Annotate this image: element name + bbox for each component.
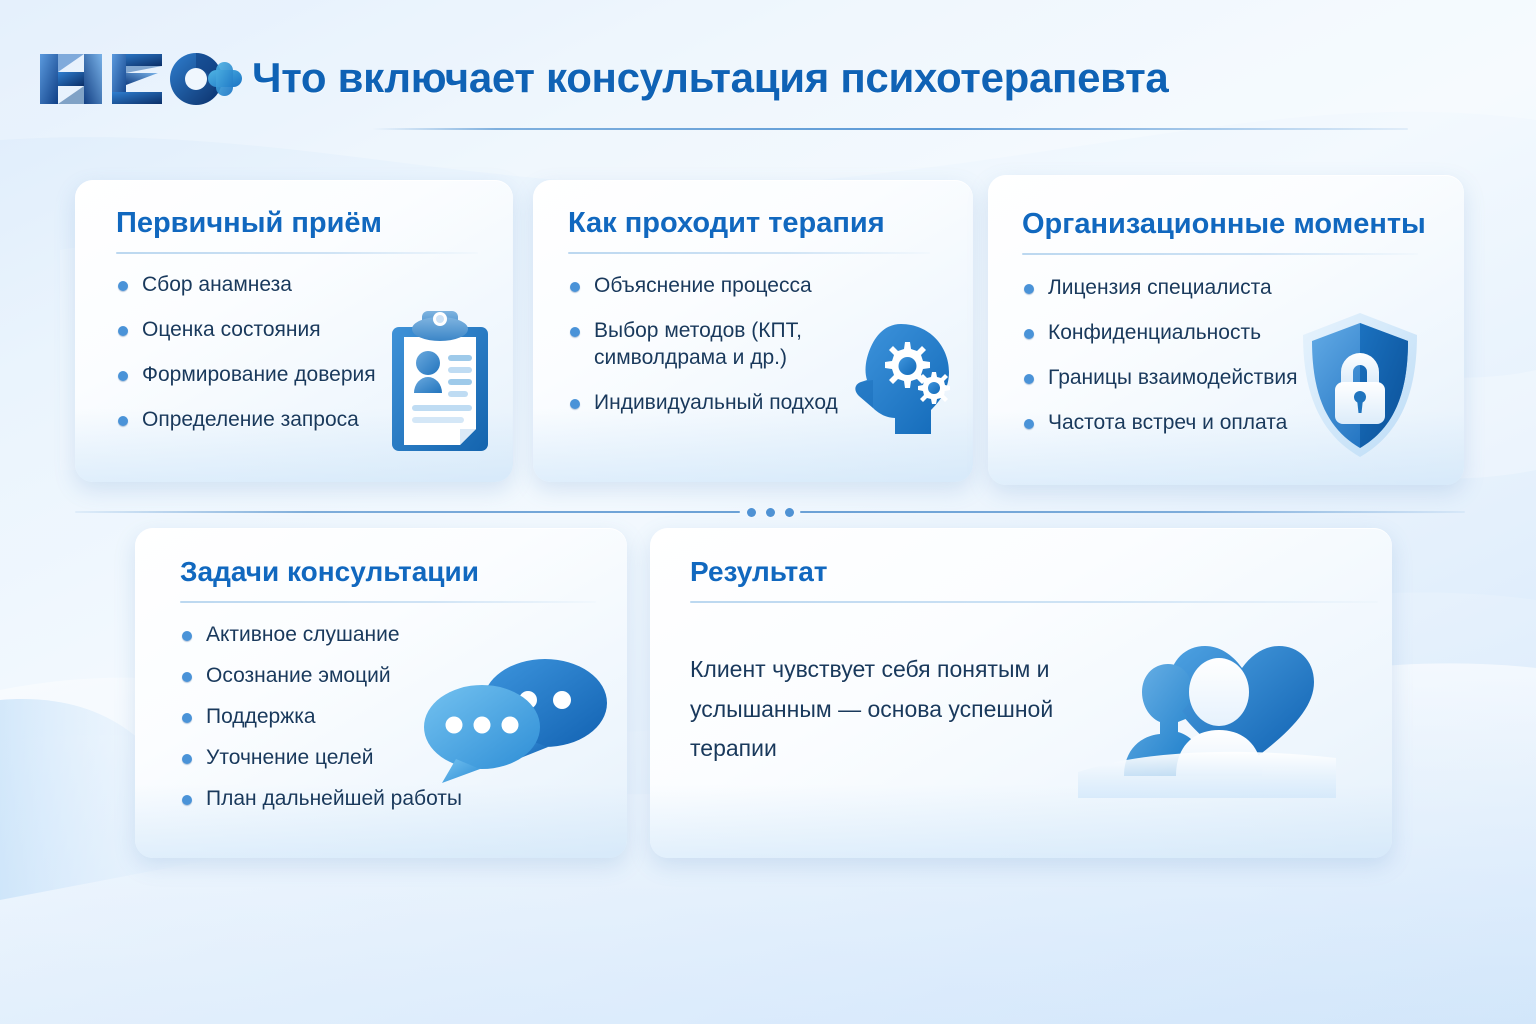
- divider-dots: [740, 505, 800, 519]
- section-divider: [75, 505, 1465, 519]
- list-item: Осознание эмоций: [180, 663, 510, 690]
- list-item: Границы взаимодействия: [1022, 365, 1322, 392]
- card-title-tasks: Задачи консультации: [180, 556, 479, 588]
- list-item: План дальнейшей работы: [180, 786, 510, 813]
- list-item: Частота встреч и оплата: [1022, 410, 1322, 437]
- list-item: Уточнение целей: [180, 745, 510, 772]
- divider-line-left: [75, 511, 740, 513]
- list-item: Оценка состояния: [116, 317, 416, 344]
- bullet-list-therapy: Объяснение процесса Выбор методов (КПТ, …: [568, 273, 848, 435]
- list-item: Формирование доверия: [116, 362, 416, 389]
- result-body-text: Клиент чувствует себя понятым и услышанн…: [690, 650, 1090, 769]
- list-item: Объяснение процесса: [568, 273, 848, 300]
- list-item: Лицензия специалиста: [1022, 275, 1322, 302]
- divider-dot: [785, 508, 794, 517]
- card-rule-therapy: [568, 252, 930, 254]
- divider-dot: [747, 508, 756, 517]
- neo-plus-logo: [38, 48, 243, 110]
- divider-dot: [766, 508, 775, 517]
- heart-people-icon: [1078, 618, 1336, 798]
- list-item: Индивидуальный подход: [568, 390, 848, 417]
- list-item: Активное слушание: [180, 622, 510, 649]
- header-divider: [372, 128, 1408, 130]
- page-header: Что включает консультация психотерапевта: [0, 0, 1536, 140]
- list-item: Определение запроса: [116, 407, 416, 434]
- card-title-primary: Первичный приём: [116, 207, 382, 240]
- bullet-list-tasks: Активное слушание Осознание эмоций Подде…: [180, 622, 510, 812]
- card-title-organization: Организационные моменты: [1022, 208, 1426, 241]
- bullet-list-primary: Сбор анамнеза Оценка состояния Формирова…: [116, 272, 416, 452]
- list-item: Выбор методов (КПТ, символдрама и др.): [568, 318, 848, 372]
- list-item: Поддержка: [180, 704, 510, 731]
- card-rule-result: [690, 601, 1378, 603]
- divider-line-right: [800, 511, 1465, 513]
- card-title-therapy: Как проходит терапия: [568, 207, 885, 240]
- bullet-list-organization: Лицензия специалиста Конфиденциальность …: [1022, 275, 1322, 455]
- card-title-result: Результат: [690, 556, 828, 588]
- list-item: Сбор анамнеза: [116, 272, 416, 299]
- card-rule-primary: [116, 252, 478, 254]
- card-rule-organization: [1022, 253, 1418, 255]
- card-rule-tasks: [180, 601, 596, 603]
- head-gears-icon: [843, 322, 955, 447]
- page-title: Что включает консультация психотерапевта: [252, 54, 1168, 102]
- list-item: Конфиденциальность: [1022, 320, 1322, 347]
